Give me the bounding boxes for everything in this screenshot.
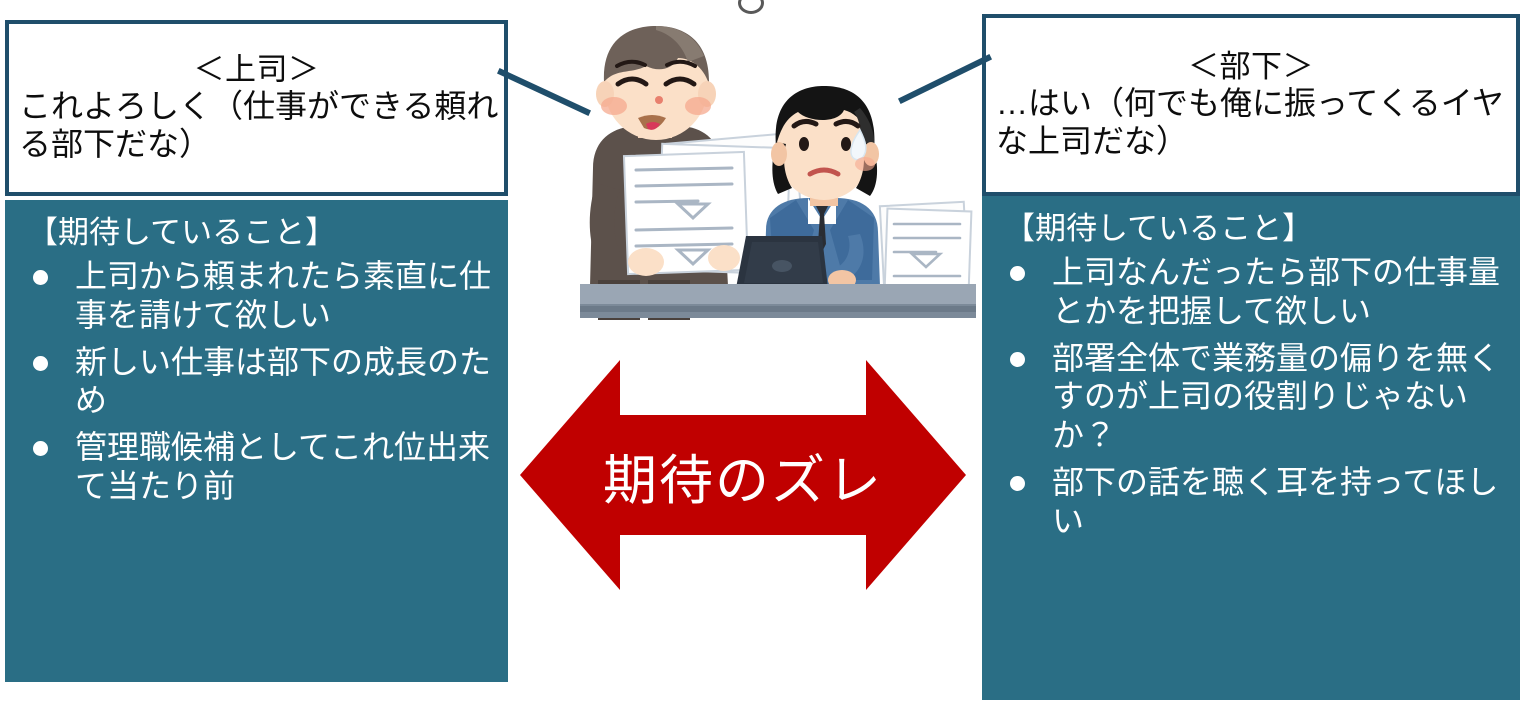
list-item: 新しい仕事は部下の成長のため [27, 343, 492, 420]
decorative-arc-icon [738, 0, 764, 14]
staff-role-label: ＜部下＞ [986, 49, 1516, 85]
list-item: 管理職候補としてこれ位出来て当たり前 [27, 428, 492, 505]
boss-role-label: ＜上司＞ [9, 52, 504, 88]
boss-speech-box: ＜上司＞ これよろしく（仕事ができる頼れる部下だな） [5, 20, 508, 196]
boss-expectations-panel: 【期待していること】 上司から頼まれたら素直に仕事を請けて欲しい 新しい仕事は部… [5, 200, 508, 682]
staff-quote-text: …はい（何でも俺に振ってくるイヤな上司だな） [986, 85, 1516, 161]
expectation-gap-arrow: 期待のズレ [520, 358, 966, 592]
bullet-dot-icon [1010, 476, 1025, 491]
bullet-dot-icon [33, 356, 48, 371]
bullet-dot-icon [1010, 352, 1025, 367]
boss-quote-text: これよろしく（仕事ができる頼れる部下だな） [9, 88, 504, 164]
bullet-dot-icon [33, 441, 48, 456]
staff-speech-box: ＜部下＞ …はい（何でも俺に振ってくるイヤな上司だな） [982, 14, 1520, 196]
list-item-text: 上司なんだったら部下の仕事量とかを把握して欲しい [1052, 254, 1500, 329]
slide-canvas: ＜上司＞ これよろしく（仕事ができる頼れる部下だな） ＜部下＞ …はい（何でも俺… [0, 0, 1531, 720]
connector-line-boss [495, 60, 595, 130]
list-item-text: 部署全体で業務量の偏りを無くすのが上司の役割りじゃないか？ [1052, 340, 1500, 453]
connector-line-staff [890, 48, 994, 118]
list-item: 上司なんだったら部下の仕事量とかを把握して欲しい [1004, 253, 1504, 330]
list-item: 上司から頼まれたら素直に仕事を請けて欲しい [27, 257, 492, 334]
list-item: 部下の話を聴く耳を持ってほしい [1004, 463, 1504, 540]
list-item-text: 新しい仕事は部下の成長のため [75, 344, 491, 419]
staff-expectations-list: 上司なんだったら部下の仕事量とかを把握して欲しい 部署全体で業務量の偏りを無くす… [1004, 253, 1504, 540]
double-headed-arrow-icon [520, 358, 966, 592]
boss-panel-title: 【期待していること】 [27, 214, 492, 251]
list-item-text: 上司から頼まれたら素直に仕事を請けて欲しい [75, 258, 491, 333]
list-item: 部署全体で業務量の偏りを無くすのが上司の役割りじゃないか？ [1004, 339, 1504, 455]
staff-panel-title: 【期待していること】 [1004, 210, 1504, 247]
list-item-text: 管理職候補としてこれ位出来て当たり前 [75, 429, 490, 504]
boss-expectations-list: 上司から頼まれたら素直に仕事を請けて欲しい 新しい仕事は部下の成長のため 管理職… [27, 257, 492, 505]
staff-expectations-panel: 【期待していること】 上司なんだったら部下の仕事量とかを把握して欲しい 部署全体… [982, 196, 1520, 700]
bullet-dot-icon [33, 270, 48, 285]
list-item-text: 部下の話を聴く耳を持ってほしい [1052, 464, 1498, 539]
bullet-dot-icon [1010, 266, 1025, 281]
